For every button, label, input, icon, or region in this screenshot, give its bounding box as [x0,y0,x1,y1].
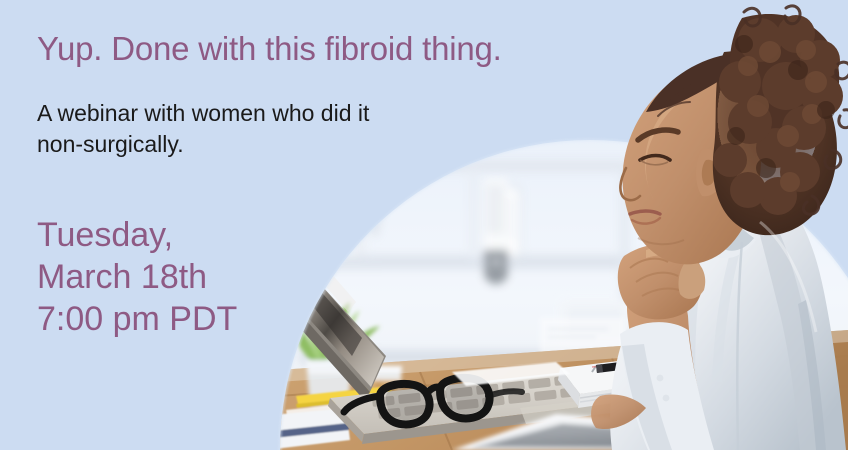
event-day: Tuesday, [37,214,337,256]
subtitle-line-1: A webinar with women who did it [37,98,507,129]
event-time: 7:00 pm PDT [37,298,337,340]
webinar-promo-banner: Yup. Done with this fibroid thing. A web… [0,0,848,450]
subtitle-line-2: non-surgically. [37,129,507,160]
event-date: March 18th [37,256,337,298]
subtitle: A webinar with women who did it non-surg… [37,98,507,160]
page-title: Yup. Done with this fibroid thing. [37,29,637,69]
event-datetime: Tuesday, March 18th 7:00 pm PDT [37,214,337,340]
